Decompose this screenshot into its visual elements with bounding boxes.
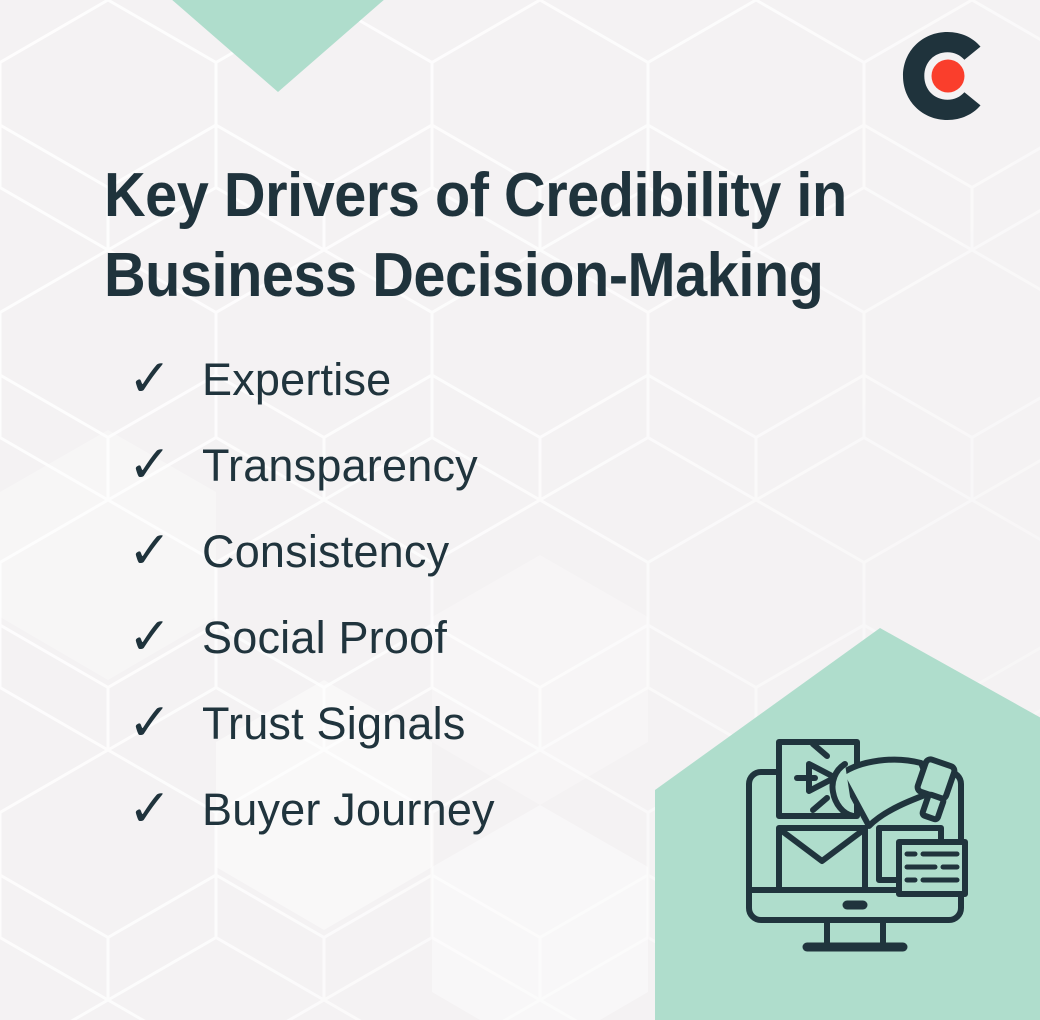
- list-item: ✓ Consistency: [128, 508, 748, 594]
- check-icon: ✓: [128, 525, 202, 577]
- check-icon: ✓: [128, 353, 202, 405]
- check-icon: ✓: [128, 611, 202, 663]
- credibility-driver-list: ✓ Expertise ✓ Transparency ✓ Consistency…: [128, 336, 748, 852]
- list-item-label: Social Proof: [202, 615, 447, 660]
- megaphone-handle: [922, 794, 944, 820]
- list-item-label: Buyer Journey: [202, 787, 495, 832]
- check-icon: ✓: [128, 697, 202, 749]
- title-line-2: Business Decision-Making: [104, 236, 848, 316]
- list-item-label: Consistency: [202, 529, 449, 574]
- brand-logo[interactable]: [900, 32, 992, 120]
- list-item-label: Expertise: [202, 357, 391, 402]
- envelope-flap: [782, 831, 862, 861]
- list-item: ✓ Transparency: [128, 422, 748, 508]
- digital-marketing-illustration: [735, 730, 995, 970]
- list-item: ✓ Social Proof: [128, 594, 748, 680]
- list-item: ✓ Buyer Journey: [128, 766, 748, 852]
- megaphone: [833, 758, 956, 826]
- list-item: ✓ Expertise: [128, 336, 748, 422]
- logo-red-dot: [932, 60, 965, 93]
- list-item-label: Transparency: [202, 443, 478, 488]
- check-icon: ✓: [128, 439, 202, 491]
- title-line-1: Key Drivers of Credibility in: [104, 156, 848, 236]
- list-item: ✓ Trust Signals: [128, 680, 748, 766]
- list-item-label: Trust Signals: [202, 701, 466, 746]
- infographic-canvas: Key Drivers of Credibility in Business D…: [0, 0, 1040, 1020]
- page-title: Key Drivers of Credibility in Business D…: [104, 156, 848, 316]
- check-icon: ✓: [128, 783, 202, 835]
- green-hexagon-top: [132, 0, 424, 92]
